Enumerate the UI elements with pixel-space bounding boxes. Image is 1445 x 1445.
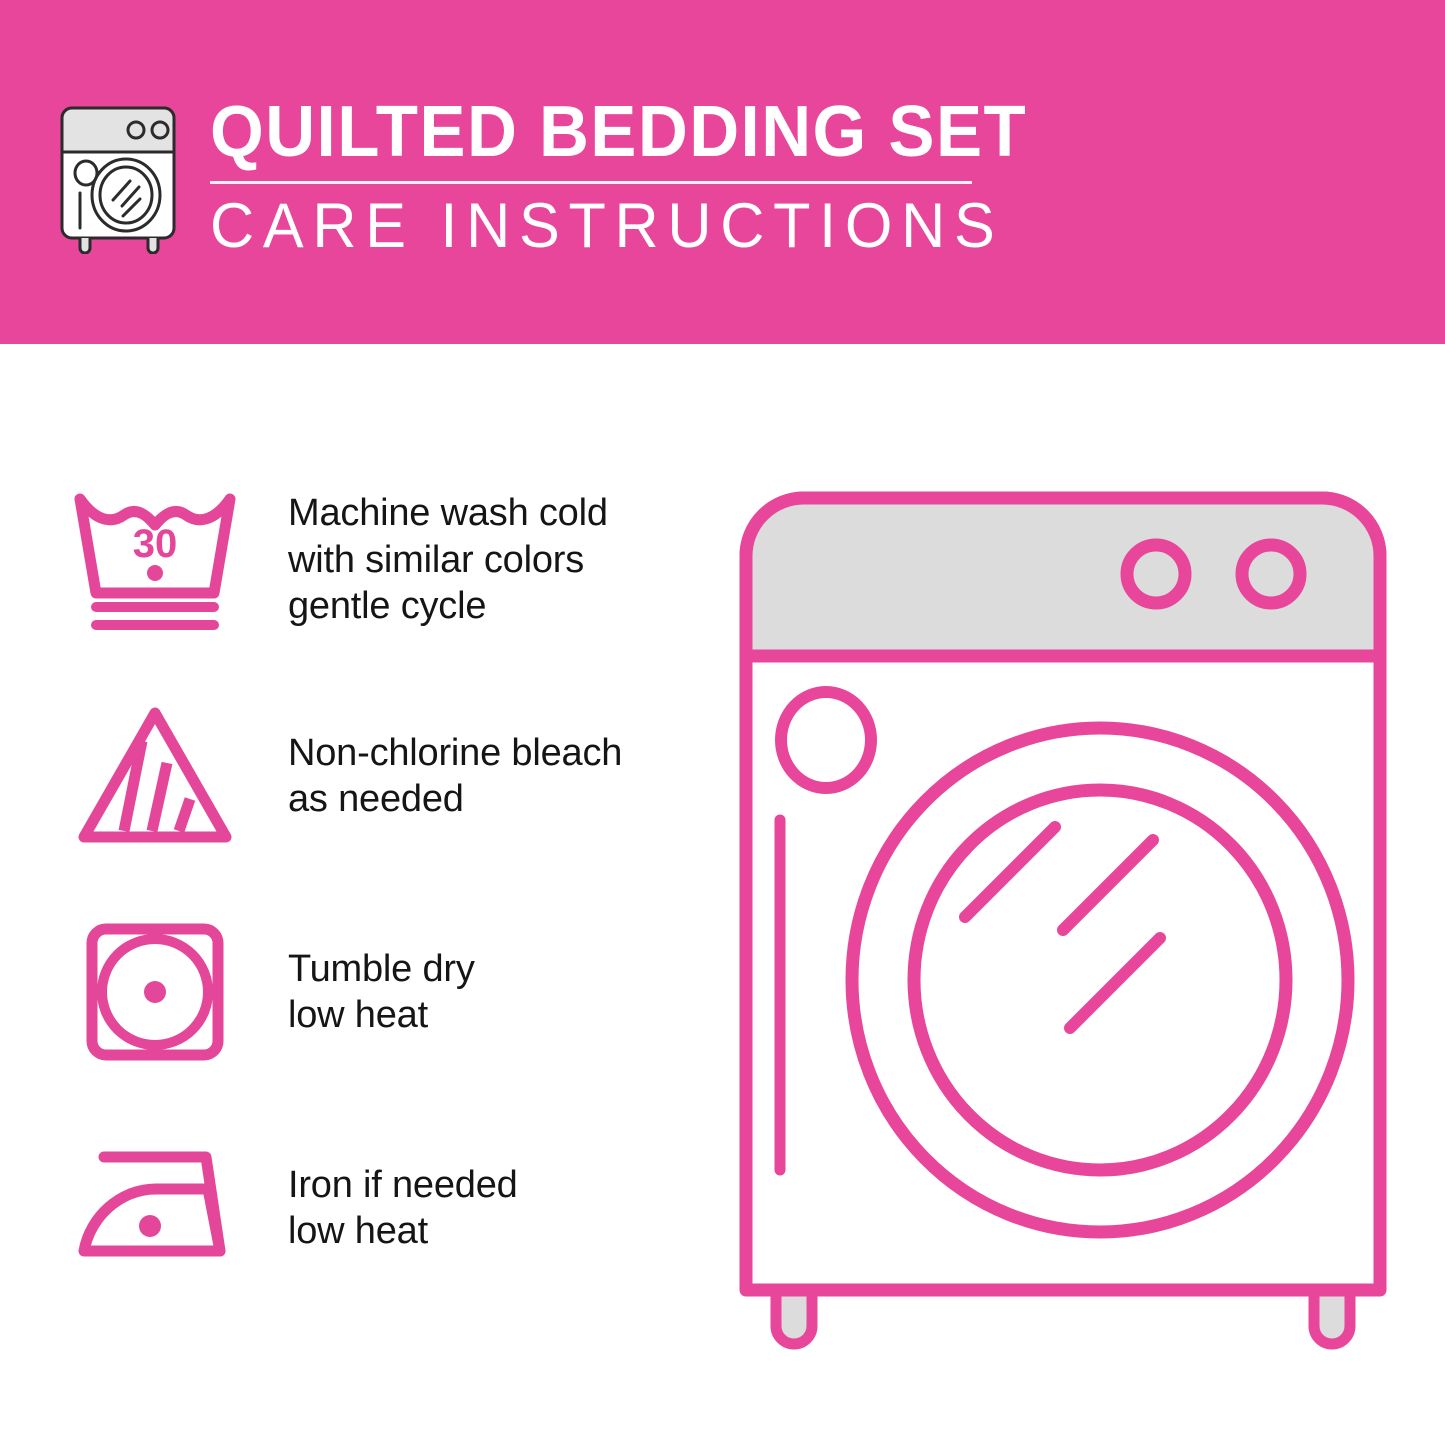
washer-leg-left (776, 1290, 812, 1344)
care-label-line: Non-chlorine bleach (288, 730, 622, 776)
care-label-line: Iron if needed (288, 1162, 518, 1208)
washer-knob-1 (1127, 545, 1185, 603)
care-label-line: low heat (288, 1208, 518, 1254)
care-row-iron: Iron if needed low heat (0, 1118, 700, 1298)
iron-dot (139, 1215, 161, 1237)
care-symbol-slot (60, 917, 250, 1067)
care-label-line: Machine wash cold (288, 490, 608, 536)
care-label-machine-wash: Machine wash cold with similar colors ge… (288, 490, 608, 629)
wash-tub-icon: 30 (66, 485, 244, 635)
header-banner: QUILTED BEDDING SET CARE INSTRUCTIONS (0, 0, 1445, 344)
tumble-dry-dot (144, 981, 166, 1003)
care-row-machine-wash: 30 Machine wash cold with similar colors… (0, 470, 700, 650)
bleach-stripe-2 (152, 763, 167, 831)
washing-machine-icon (56, 102, 188, 254)
washer-detergent-knob (781, 692, 871, 788)
care-label-bleach: Non-chlorine bleach as needed (288, 730, 622, 823)
header-content: QUILTED BEDDING SET CARE INSTRUCTIONS (56, 96, 1061, 259)
washer-knob-2 (1242, 545, 1300, 603)
care-label-line: Tumble dry (288, 946, 475, 992)
care-symbol-slot (60, 701, 250, 851)
care-instruction-list: 30 Machine wash cold with similar colors… (0, 470, 700, 1334)
iron-icon (66, 1133, 244, 1283)
washer-leg-right (1314, 1290, 1350, 1344)
header-divider (210, 181, 972, 184)
care-row-bleach: Non-chlorine bleach as needed (0, 686, 700, 866)
page-title: QUILTED BEDDING SET (210, 96, 1027, 169)
care-row-tumble-dry: Tumble dry low heat (0, 902, 700, 1082)
care-label-line: low heat (288, 992, 475, 1038)
care-label-line: with similar colors (288, 537, 608, 583)
care-label-line: as needed (288, 776, 622, 822)
wash-temperature-label: 30 (133, 522, 178, 566)
care-symbol-slot: 30 (60, 485, 250, 635)
care-label-iron: Iron if needed low heat (288, 1162, 518, 1255)
wash-dot (147, 565, 163, 581)
bleach-triangle-icon (66, 701, 244, 851)
header-text-block: QUILTED BEDDING SET CARE INSTRUCTIONS (210, 96, 1061, 259)
care-label-tumble-dry: Tumble dry low heat (288, 946, 475, 1039)
bleach-stripe-3 (179, 799, 190, 831)
care-instructions-page: QUILTED BEDDING SET CARE INSTRUCTIONS 30… (0, 0, 1445, 1445)
washing-machine-illustration (718, 470, 1418, 1370)
tumble-dry-icon (66, 917, 244, 1067)
care-symbol-slot (60, 1133, 250, 1283)
care-label-line: gentle cycle (288, 583, 608, 629)
page-subtitle: CARE INSTRUCTIONS (210, 194, 1036, 258)
